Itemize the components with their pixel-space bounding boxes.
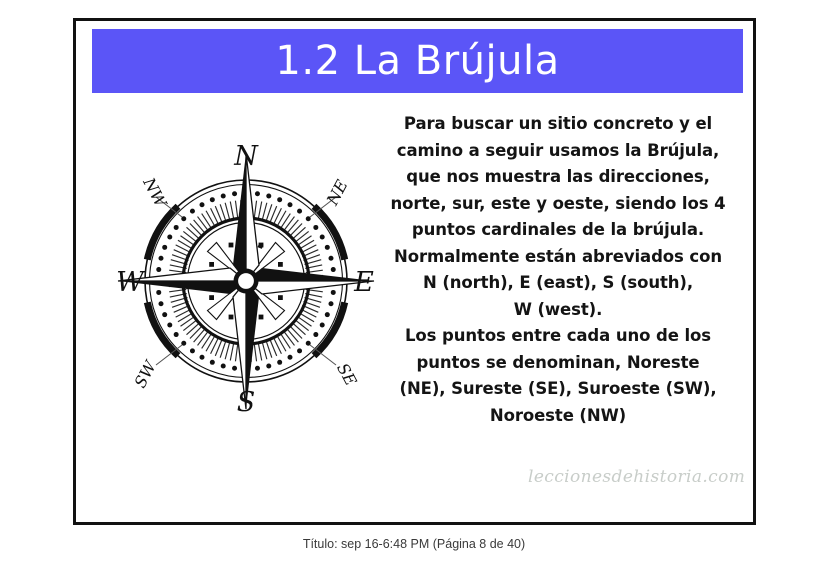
body-line: N (north), E (east), S (south), xyxy=(384,270,732,297)
compass-label-s: S xyxy=(237,387,256,418)
body-paragraph: Para buscar un sitio concreto y el camin… xyxy=(384,111,732,429)
body-line: puntos se denominan, Noreste xyxy=(384,350,732,377)
page-title: 1.2 La Brújula xyxy=(275,41,559,81)
body-line: (NE), Sureste (SE), Suroeste (SW), xyxy=(384,376,732,403)
body-line: puntos cardinales de la brújula. xyxy=(384,217,732,244)
slide-frame: 1.2 La Brújula xyxy=(73,18,756,525)
slide-viewer-page: { "slide": { "title": "1.2 La Brújula", … xyxy=(0,0,828,585)
compass-label-sw: SW xyxy=(130,356,160,390)
body-line: W (west). xyxy=(384,297,732,324)
body-line: Para buscar un sitio concreto y el xyxy=(384,111,732,138)
slide-title-bar: 1.2 La Brújula xyxy=(92,29,743,93)
compass-label-se: SE xyxy=(333,360,361,389)
watermark: leccionesdehistoria.com xyxy=(528,467,728,487)
compass-label-w: W xyxy=(116,267,146,298)
body-line: Los puntos entre cada uno de los xyxy=(384,323,732,350)
compass-label-nw: NW xyxy=(139,174,171,212)
body-line: que nos muestra las direcciones, xyxy=(384,164,732,191)
compass-label-n: N xyxy=(233,141,259,172)
slide-caption: Título: sep 16-6:48 PM (Página 8 de 40) xyxy=(0,537,828,551)
body-line: camino a seguir usamos la Brújula, xyxy=(384,138,732,165)
body-line: Noroeste (NW) xyxy=(384,403,732,430)
compass-label-e: E xyxy=(353,267,374,298)
compass-rose-illustration: N E S W NE SE SW NW xyxy=(106,131,386,421)
body-line: norte, sur, este y oeste, siendo los 4 xyxy=(384,191,732,218)
body-line: Normalmente están abreviados con xyxy=(384,244,732,271)
